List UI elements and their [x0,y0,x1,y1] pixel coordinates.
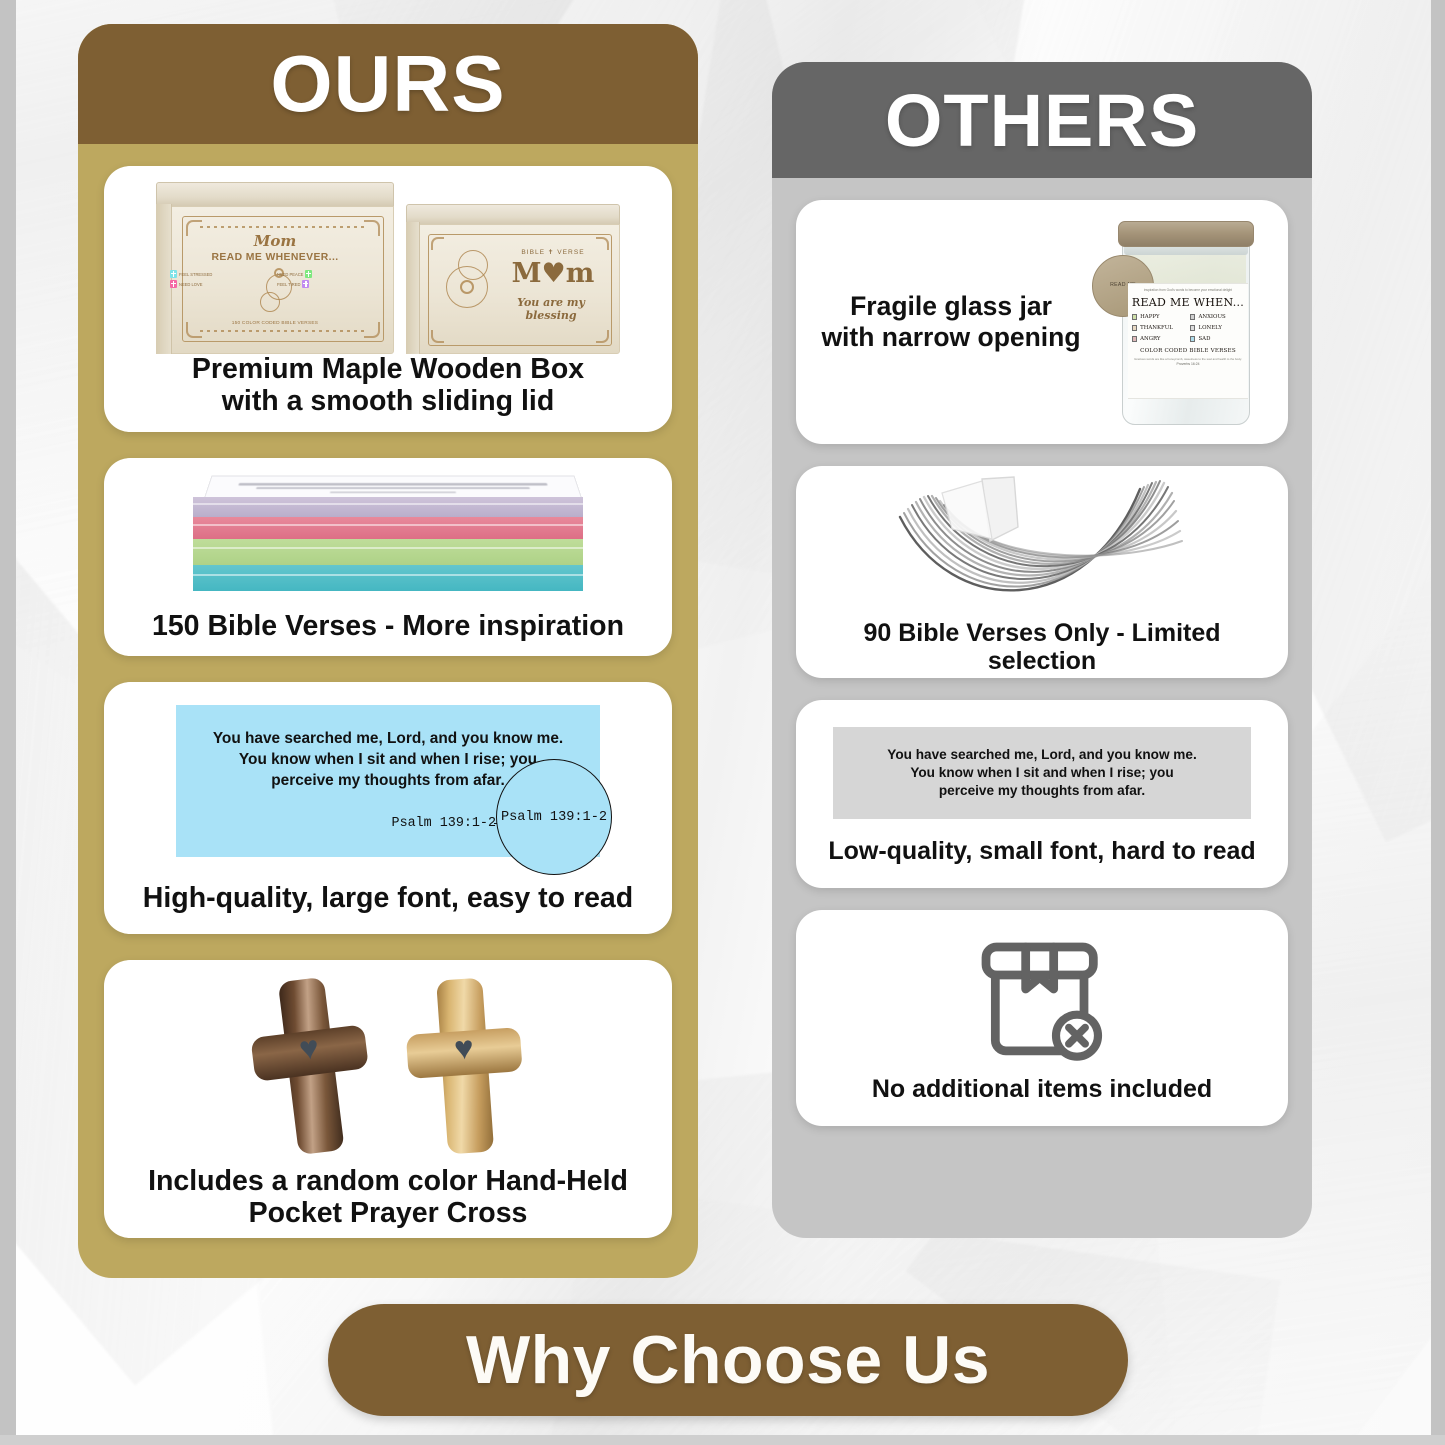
jar-label-mood-grid: HAPPY ANXIOUS THANKFUL [1132,314,1245,342]
comparison-infographic: OURS [0,0,1445,1445]
others-header-label: OTHERS [885,78,1199,163]
prayer-crosses-image: ♥ ♥ [104,972,672,1156]
jar-mood-label: THANKFUL [1140,325,1173,331]
jar-mood-label: HAPPY [1140,314,1159,320]
wooden-boxes-image: Mom READ ME WHENEVER... FEEL STRESSED [104,178,672,354]
others-feature-card-no-extras[interactable]: No additional items included [796,910,1288,1126]
box-eyebrow: BIBLE ✝ VERSE [502,248,604,256]
card-caption-line1: High-quality, large font, easy to read [143,883,633,915]
stack-layer-pink [193,517,583,539]
jar-label-title: READ ME WHEN... [1132,296,1244,309]
prayer-cross-dark: ♥ [242,969,381,1160]
background-edge-bottom [0,1435,1445,1445]
mood-item: FEEL TIRED [277,280,380,288]
heart-icon: ♥ [293,1033,326,1064]
box-script-word: Mom [156,232,394,250]
blurred-text-line [239,483,548,485]
sunflower-icon [458,250,488,280]
cross-swatch-icon [170,280,177,288]
card-stack-image [104,471,672,595]
card-caption: Low-quality, small font, hard to read [816,837,1267,865]
crosses-row: ♥ ♥ [252,972,524,1156]
mood-item: NEED LOVE [170,280,273,288]
others-column-header: OTHERS [772,62,1312,178]
why-choose-us-label: Why Choose Us [466,1321,990,1399]
magnified-reference: Psalm 139:1-2 [501,810,607,825]
jar-mood-label: ANXIOUS [1198,314,1225,320]
mood-swatch-icon [1132,336,1138,342]
verse-line-2: You know when I sit and when I rise; you [239,750,537,771]
card-caption: 150 Bible Verses - More inspiration [140,611,636,643]
verse-line-3: perceive my thoughts from afar. [271,771,505,792]
card-caption-line1: No additional items included [872,1075,1212,1103]
others-feature-card-glass-jar[interactable]: Fragile glass jar with narrow opening RE… [796,200,1288,444]
cross-swatch-icon [302,280,309,288]
card-caption: Fragile glass jar with narrow opening [806,291,1096,352]
mood-label: FEEL STRESSED [179,272,212,277]
jar-mood-item: ANGRY [1132,336,1186,342]
cross-swatch-icon [305,270,312,278]
mood-item: FEEL STRESSED [170,270,273,278]
box-headline: READ ME WHENEVER... [156,252,394,263]
wooden-box-side-panel [406,222,420,354]
card-caption-line2: with a smooth sliding lid [192,386,584,418]
jar-label-fine-print: Gracious words are like a honeycomb, swe… [1133,357,1243,361]
stack-layer-green [193,539,583,565]
mood-label: FEEL TIRED [277,282,300,287]
jar-mood-label: ANGRY [1140,336,1160,342]
sunflower-icon [260,292,280,312]
corner-flourish-icon [431,237,444,250]
verse-line-2: You know when I sit and when I rise; you [910,764,1173,782]
glass-jar-image: READ ME inspiration from God's words to … [1096,211,1278,433]
ours-feature-card-verse-count[interactable]: 150 Bible Verses - More inspiration [104,458,672,656]
mood-swatch-icon [1190,336,1196,342]
mood-swatch-icon [1190,314,1196,320]
card-caption: Includes a random color Hand-Held Pocket… [136,1166,640,1230]
card-caption-line2: with narrow opening [806,322,1096,353]
no-items-image [796,937,1288,1069]
jar-label-micro-text: inspiration from God's words to become y… [1130,288,1245,292]
stack-layer-teal [193,565,583,591]
gray-verse-image: You have searched me, Lord, and you know… [796,727,1288,819]
blurred-text-line [330,492,457,493]
mood-grid: FEEL STRESSED NEED PEACE NEED LOVE [170,270,380,288]
card-caption-line1: Low-quality, small font, hard to read [828,837,1255,865]
others-feature-card-verse-count[interactable]: 90 Bible Verses Only - Limited selection [796,466,1288,678]
ours-header-label: OURS [270,38,505,130]
pages-illustration-icon [882,469,1202,609]
jar-mood-item: SAD [1190,336,1244,342]
jar-mood-item: LONELY [1190,325,1244,331]
heart-icon: ♥ [448,1034,480,1064]
prayer-cross-light: ♥ [400,971,530,1157]
jar-mood-item: ANXIOUS [1190,314,1244,320]
jar-mood-label: SAD [1198,336,1210,342]
jar-mood-label: LONELY [1198,325,1221,331]
verse-reference: Psalm 139:1-2 [392,816,496,831]
others-column: OTHERS Fragile glass jar with narrow ope… [772,62,1312,1238]
card-caption: High-quality, large font, easy to read [131,883,645,915]
box-footer-text: 150 COLOR CODED BIBLE VERSES [156,321,394,326]
mood-label: NEED PEACE [277,272,303,277]
card-caption-line1: 90 Bible Verses Only - Limited selection [808,619,1276,675]
stack-layer-lavender [193,497,583,517]
wooden-box-front: Mom READ ME WHENEVER... FEEL STRESSED [156,182,394,354]
card-caption-line1: Includes a random color Hand-Held [148,1166,628,1198]
blue-verse-image: You have searched me, Lord, and you know… [104,705,672,857]
ours-feature-card-prayer-cross[interactable]: ♥ ♥ Includes a random color Hand-Held Po… [104,960,672,1238]
magnifier-callout: Psalm 139:1-2 [496,759,612,875]
ours-card-list: Mom READ ME WHENEVER... FEEL STRESSED [78,166,698,1238]
jar-mood-item: HAPPY [1132,314,1186,320]
ours-column-header: OURS [78,24,698,144]
jar-cork-lid [1118,221,1254,247]
background-edge-left [0,0,16,1445]
verse-line-1: You have searched me, Lord, and you know… [887,746,1196,764]
mood-swatch-icon [1132,325,1138,331]
card-caption-line1: Fragile glass jar [806,291,1096,322]
engraving-divider [200,330,366,332]
mood-swatch-icon [1190,325,1196,331]
cross-swatch-icon [170,270,177,278]
corner-flourish-icon [431,330,444,343]
jar-label-reference: Proverbs 16:24 [1177,362,1200,366]
boxes-row: Mom READ ME WHENEVER... FEEL STRESSED [156,178,620,354]
mood-label: NEED LOVE [179,282,202,287]
sunflower-center-icon [460,280,474,294]
gray-verse-card: You have searched me, Lord, and you know… [833,727,1251,819]
card-caption-line1: 150 Bible Verses - More inspiration [152,611,624,643]
card-caption: 90 Bible Verses Only - Limited selection [796,619,1288,675]
jar-label: inspiration from God's words to become y… [1128,283,1248,399]
color-card-stack [193,471,583,595]
card-caption-line2: Pocket Prayer Cross [148,1198,628,1230]
box-excluded-icon [972,937,1112,1069]
others-feature-card-font-quality[interactable]: You have searched me, Lord, and you know… [796,700,1288,888]
others-card-list: Fragile glass jar with narrow opening RE… [772,200,1312,1126]
card-caption-line1: Premium Maple Wooden Box [192,354,584,386]
mood-item: NEED PEACE [277,270,380,278]
box-word-mom: M♥m [502,260,604,287]
blue-verse-card: You have searched me, Lord, and you know… [176,705,600,857]
verse-line-1: You have searched me, Lord, and you know… [213,729,563,750]
mood-swatch-icon [1132,314,1138,320]
engraving-divider [200,226,366,228]
jar-mood-item: THANKFUL [1132,325,1186,331]
ours-feature-card-wooden-box[interactable]: Mom READ ME WHENEVER... FEEL STRESSED [104,166,672,432]
wooden-box-side: BIBLE ✝ VERSE M♥m You are my blessing [406,204,620,354]
loose-pages-image [796,469,1288,609]
loose-pages [882,469,1202,609]
ours-feature-card-font-quality[interactable]: You have searched me, Lord, and you know… [104,682,672,934]
why-choose-us-banner[interactable]: Why Choose Us [328,1304,1128,1416]
card-caption: No additional items included [860,1075,1224,1103]
jar-label-footer: COLOR CODED BIBLE VERSES [1140,348,1236,354]
card-caption: Premium Maple Wooden Box with a smooth s… [180,354,596,418]
wooden-box-lid [406,204,620,226]
verse-line-3: perceive my thoughts from afar. [939,782,1145,800]
wooden-box-lid [156,182,394,208]
background-edge-right [1431,0,1445,1445]
blurred-text-line [256,487,530,489]
ours-column: OURS [78,24,698,1278]
box-tagline: You are my blessing [494,296,608,322]
